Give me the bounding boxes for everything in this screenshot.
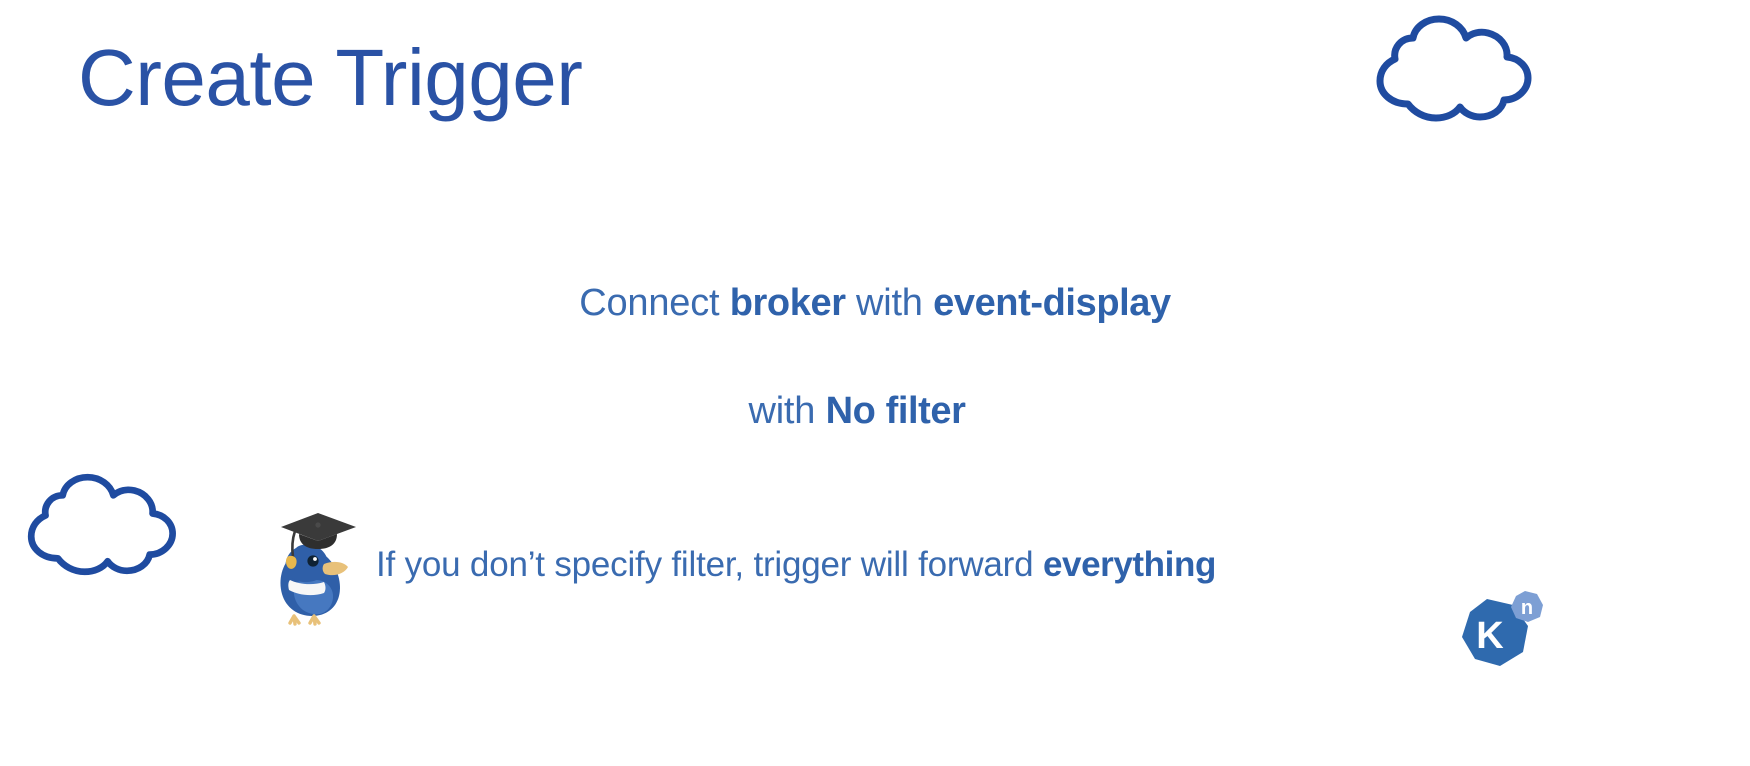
cloud-outline-icon: [14, 466, 186, 587]
subtitle-line-filter: with No filter: [748, 388, 965, 436]
text-filter-pre: with: [748, 390, 825, 432]
knative-logo-letter-k: K: [1476, 615, 1504, 657]
knative-logo-icon: K n: [1446, 586, 1546, 687]
page-title: Create Trigger: [78, 36, 582, 120]
text-connect-pre: Connect: [579, 282, 730, 324]
cloud-outline-icon: [1362, 8, 1542, 133]
text-note-pre: If you don’t specify filter, trigger wil…: [376, 545, 1043, 584]
note-line: If you don’t specify filter, trigger wil…: [376, 543, 1216, 587]
subtitle-line-connect: Connect broker with event-display: [579, 280, 1171, 328]
slide-canvas: Create Trigger Connect broker with event…: [0, 0, 1750, 766]
text-connect-mid: with: [846, 282, 934, 324]
text-connect-event-display: event-display: [933, 282, 1171, 324]
knative-logo-letter-n: n: [1521, 597, 1533, 619]
text-filter-no-filter: No filter: [826, 390, 966, 432]
graduate-bird-mascot-icon: [268, 504, 360, 631]
text-note-everything: everything: [1043, 545, 1216, 584]
text-connect-broker: broker: [730, 282, 846, 324]
